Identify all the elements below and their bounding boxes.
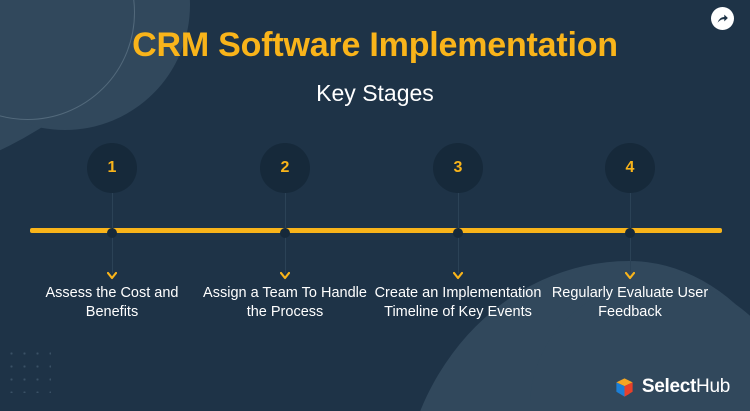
logo-name-bold: Select — [642, 376, 696, 397]
stage-number-2: 2 — [281, 159, 290, 177]
stage-node-dot-3 — [453, 228, 463, 238]
stage-node-dot-1 — [107, 228, 117, 238]
chevron-down-icon — [453, 268, 463, 278]
slide-canvas: CRM Software Implementation Key Stages 1… — [0, 0, 750, 411]
stage-number-badge-1: 1 — [87, 143, 137, 193]
decor-dot-grid-bottom-left — [5, 347, 51, 393]
stage-label-4: Regularly Evaluate User Feedback — [540, 284, 720, 322]
page-subtitle: Key Stages — [0, 80, 750, 107]
stage-number-badge-2: 2 — [260, 143, 310, 193]
chevron-down-icon — [280, 268, 290, 278]
page-title: CRM Software Implementation — [0, 26, 750, 65]
stage-label-3: Create an Implementation Timeline of Key… — [368, 284, 548, 322]
stage-number-badge-4: 4 — [605, 143, 655, 193]
timeline-bar — [30, 228, 722, 233]
decor-circle-top-left — [0, 0, 190, 130]
stage-number-3: 3 — [454, 159, 463, 177]
selecthub-cube-icon — [614, 377, 635, 398]
stage-node-dot-4 — [625, 228, 635, 238]
logo-name-light: Hub — [696, 376, 730, 397]
stage-label-2: Assign a Team To Handle the Process — [195, 284, 375, 322]
chevron-down-icon — [107, 268, 117, 278]
stage-label-1: Assess the Cost and Benefits — [22, 284, 202, 322]
selecthub-logo-text: SelectHub — [642, 376, 730, 398]
stage-number-4: 4 — [626, 159, 635, 177]
stage-number-badge-3: 3 — [433, 143, 483, 193]
stage-number-1: 1 — [108, 159, 117, 177]
share-arrow-icon — [716, 12, 729, 25]
stage-node-dot-2 — [280, 228, 290, 238]
chevron-down-icon — [625, 268, 635, 278]
selecthub-logo[interactable]: SelectHub — [614, 376, 730, 398]
